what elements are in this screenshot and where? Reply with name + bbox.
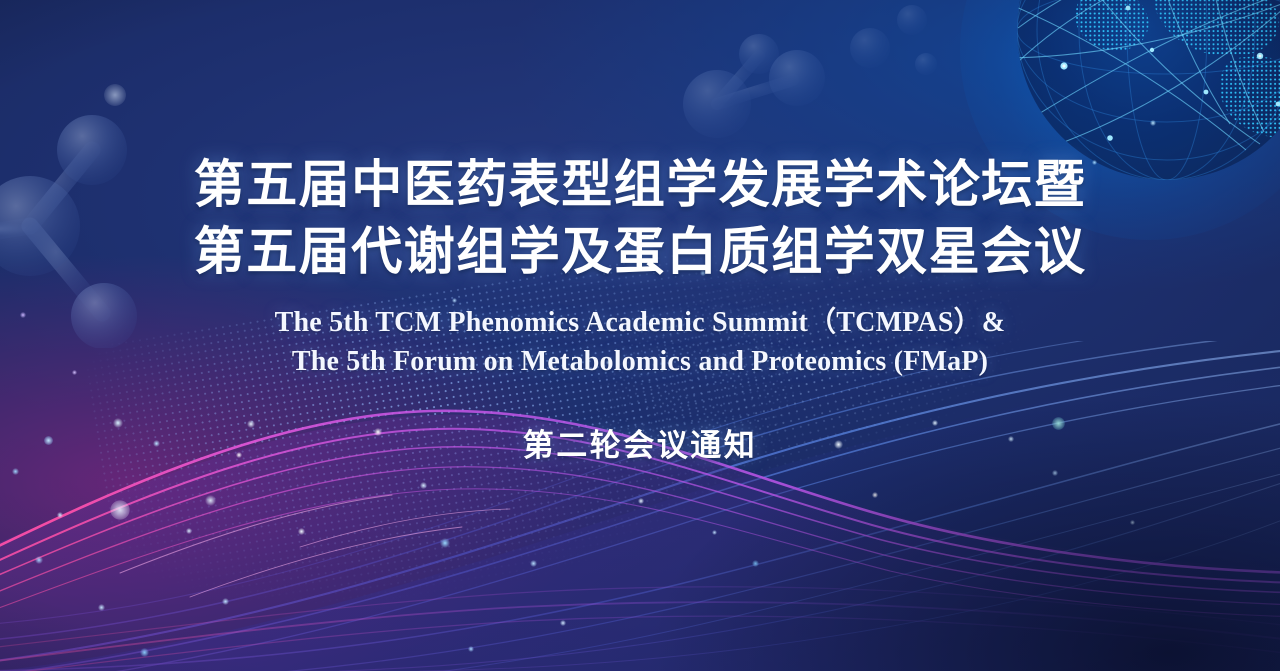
conference-poster: 第五届中医药表型组学发展学术论坛暨 第五届代谢组学及蛋白质组学双星会议 The … — [0, 0, 1280, 671]
title-line-2: 第五届代谢组学及蛋白质组学双星会议 — [0, 219, 1280, 286]
subtitle-line-2: The 5th Forum on Metabolomics and Proteo… — [0, 342, 1280, 381]
notice-text: 第二轮会议通知 — [0, 420, 1280, 465]
poster-title: 第五届中医药表型组学发展学术论坛暨 第五届代谢组学及蛋白质组学双星会议 — [0, 152, 1280, 287]
poster-content: 第五届中医药表型组学发展学术论坛暨 第五届代谢组学及蛋白质组学双星会议 The … — [0, 0, 1280, 671]
title-line-1: 第五届中医药表型组学发展学术论坛暨 — [0, 152, 1280, 219]
poster-notice: 第二轮会议通知 — [0, 420, 1280, 465]
subtitle-line-1: The 5th TCM Phenomics Academic Summit（TC… — [0, 303, 1280, 342]
poster-subtitle: The 5th TCM Phenomics Academic Summit（TC… — [0, 303, 1280, 381]
